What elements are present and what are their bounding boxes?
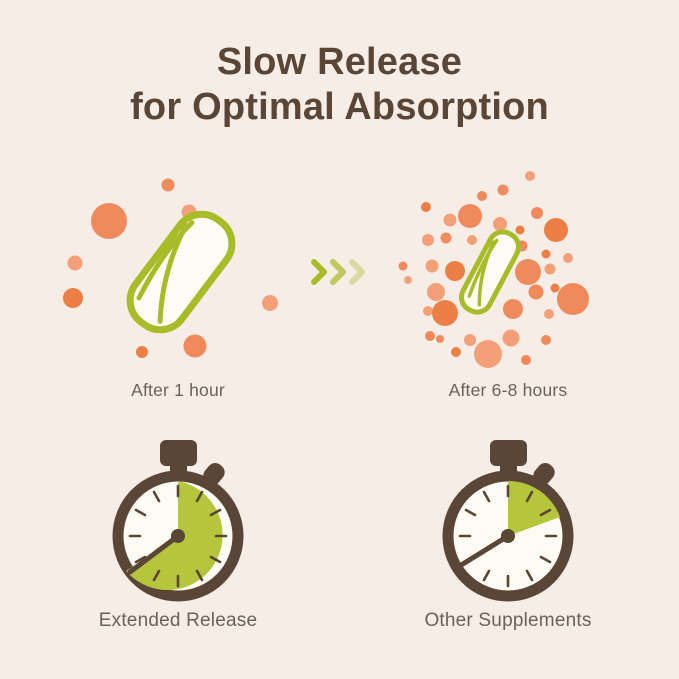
dot bbox=[445, 261, 465, 281]
dot bbox=[557, 283, 589, 315]
dot bbox=[493, 217, 507, 231]
dot bbox=[544, 309, 554, 319]
panel-caption-left: After 1 hour bbox=[48, 380, 308, 401]
panel-after-1-hour: After 1 hour bbox=[48, 168, 308, 378]
dot bbox=[91, 203, 127, 239]
dot bbox=[422, 234, 434, 246]
dot bbox=[545, 264, 556, 275]
dot bbox=[136, 346, 148, 358]
stopwatch-caption-right: Other Supplements bbox=[378, 610, 638, 632]
dot bbox=[423, 306, 433, 316]
dot bbox=[551, 284, 560, 293]
dot bbox=[529, 285, 544, 300]
dot bbox=[498, 185, 509, 196]
dot bbox=[531, 207, 543, 219]
panel-after-6-8-hours: After 6-8 hours bbox=[378, 168, 638, 378]
chevron-right-icon bbox=[333, 262, 343, 282]
dot bbox=[399, 262, 408, 271]
dot bbox=[184, 335, 207, 358]
stopwatch-extended-release: Extended Release bbox=[48, 438, 308, 628]
dot bbox=[262, 295, 278, 311]
stopwatch-hand-pivot bbox=[171, 529, 185, 543]
dot bbox=[515, 259, 541, 285]
dot bbox=[503, 330, 520, 347]
capsule-body bbox=[119, 203, 242, 340]
dot bbox=[563, 253, 573, 263]
dot bbox=[544, 218, 568, 242]
stopwatch-icon bbox=[378, 438, 638, 603]
panel-caption-right: After 6-8 hours bbox=[378, 380, 638, 401]
dot bbox=[436, 335, 444, 343]
dot bbox=[426, 260, 439, 273]
stopwatch-icon bbox=[48, 438, 308, 603]
dot bbox=[404, 276, 412, 284]
chevron-right-icon bbox=[314, 262, 324, 282]
dot bbox=[421, 202, 431, 212]
capsule-large bbox=[119, 203, 242, 340]
dot bbox=[63, 288, 83, 308]
dot bbox=[477, 191, 487, 201]
dot bbox=[521, 355, 531, 365]
dot bbox=[542, 250, 551, 259]
dot bbox=[458, 204, 482, 228]
dot bbox=[162, 179, 175, 192]
title-line-1: Slow Release bbox=[0, 40, 679, 85]
dot bbox=[432, 300, 458, 326]
infographic-root: Slow Release for Optimal Absorption Afte… bbox=[0, 0, 679, 679]
dot bbox=[474, 340, 502, 368]
dot bbox=[441, 233, 452, 244]
page-title: Slow Release for Optimal Absorption bbox=[0, 40, 679, 130]
progression-arrows bbox=[310, 256, 372, 288]
dot bbox=[427, 283, 445, 301]
capsule-intact-illustration bbox=[48, 168, 308, 378]
capsule-dissolved-illustration bbox=[378, 168, 638, 378]
dot bbox=[464, 334, 476, 346]
dot bbox=[68, 256, 83, 271]
dot bbox=[451, 347, 461, 357]
dot bbox=[444, 214, 457, 227]
dot bbox=[525, 171, 535, 181]
stopwatch-hand-pivot bbox=[501, 529, 515, 543]
dot bbox=[541, 335, 551, 345]
title-line-2: for Optimal Absorption bbox=[0, 85, 679, 130]
dot bbox=[467, 235, 477, 245]
dot bbox=[425, 331, 435, 341]
stopwatch-caption-left: Extended Release bbox=[48, 610, 308, 632]
dot bbox=[516, 226, 525, 235]
dot bbox=[503, 299, 523, 319]
chevron-right-icon bbox=[352, 262, 362, 282]
stopwatch-other-supplements: Other Supplements bbox=[378, 438, 638, 628]
